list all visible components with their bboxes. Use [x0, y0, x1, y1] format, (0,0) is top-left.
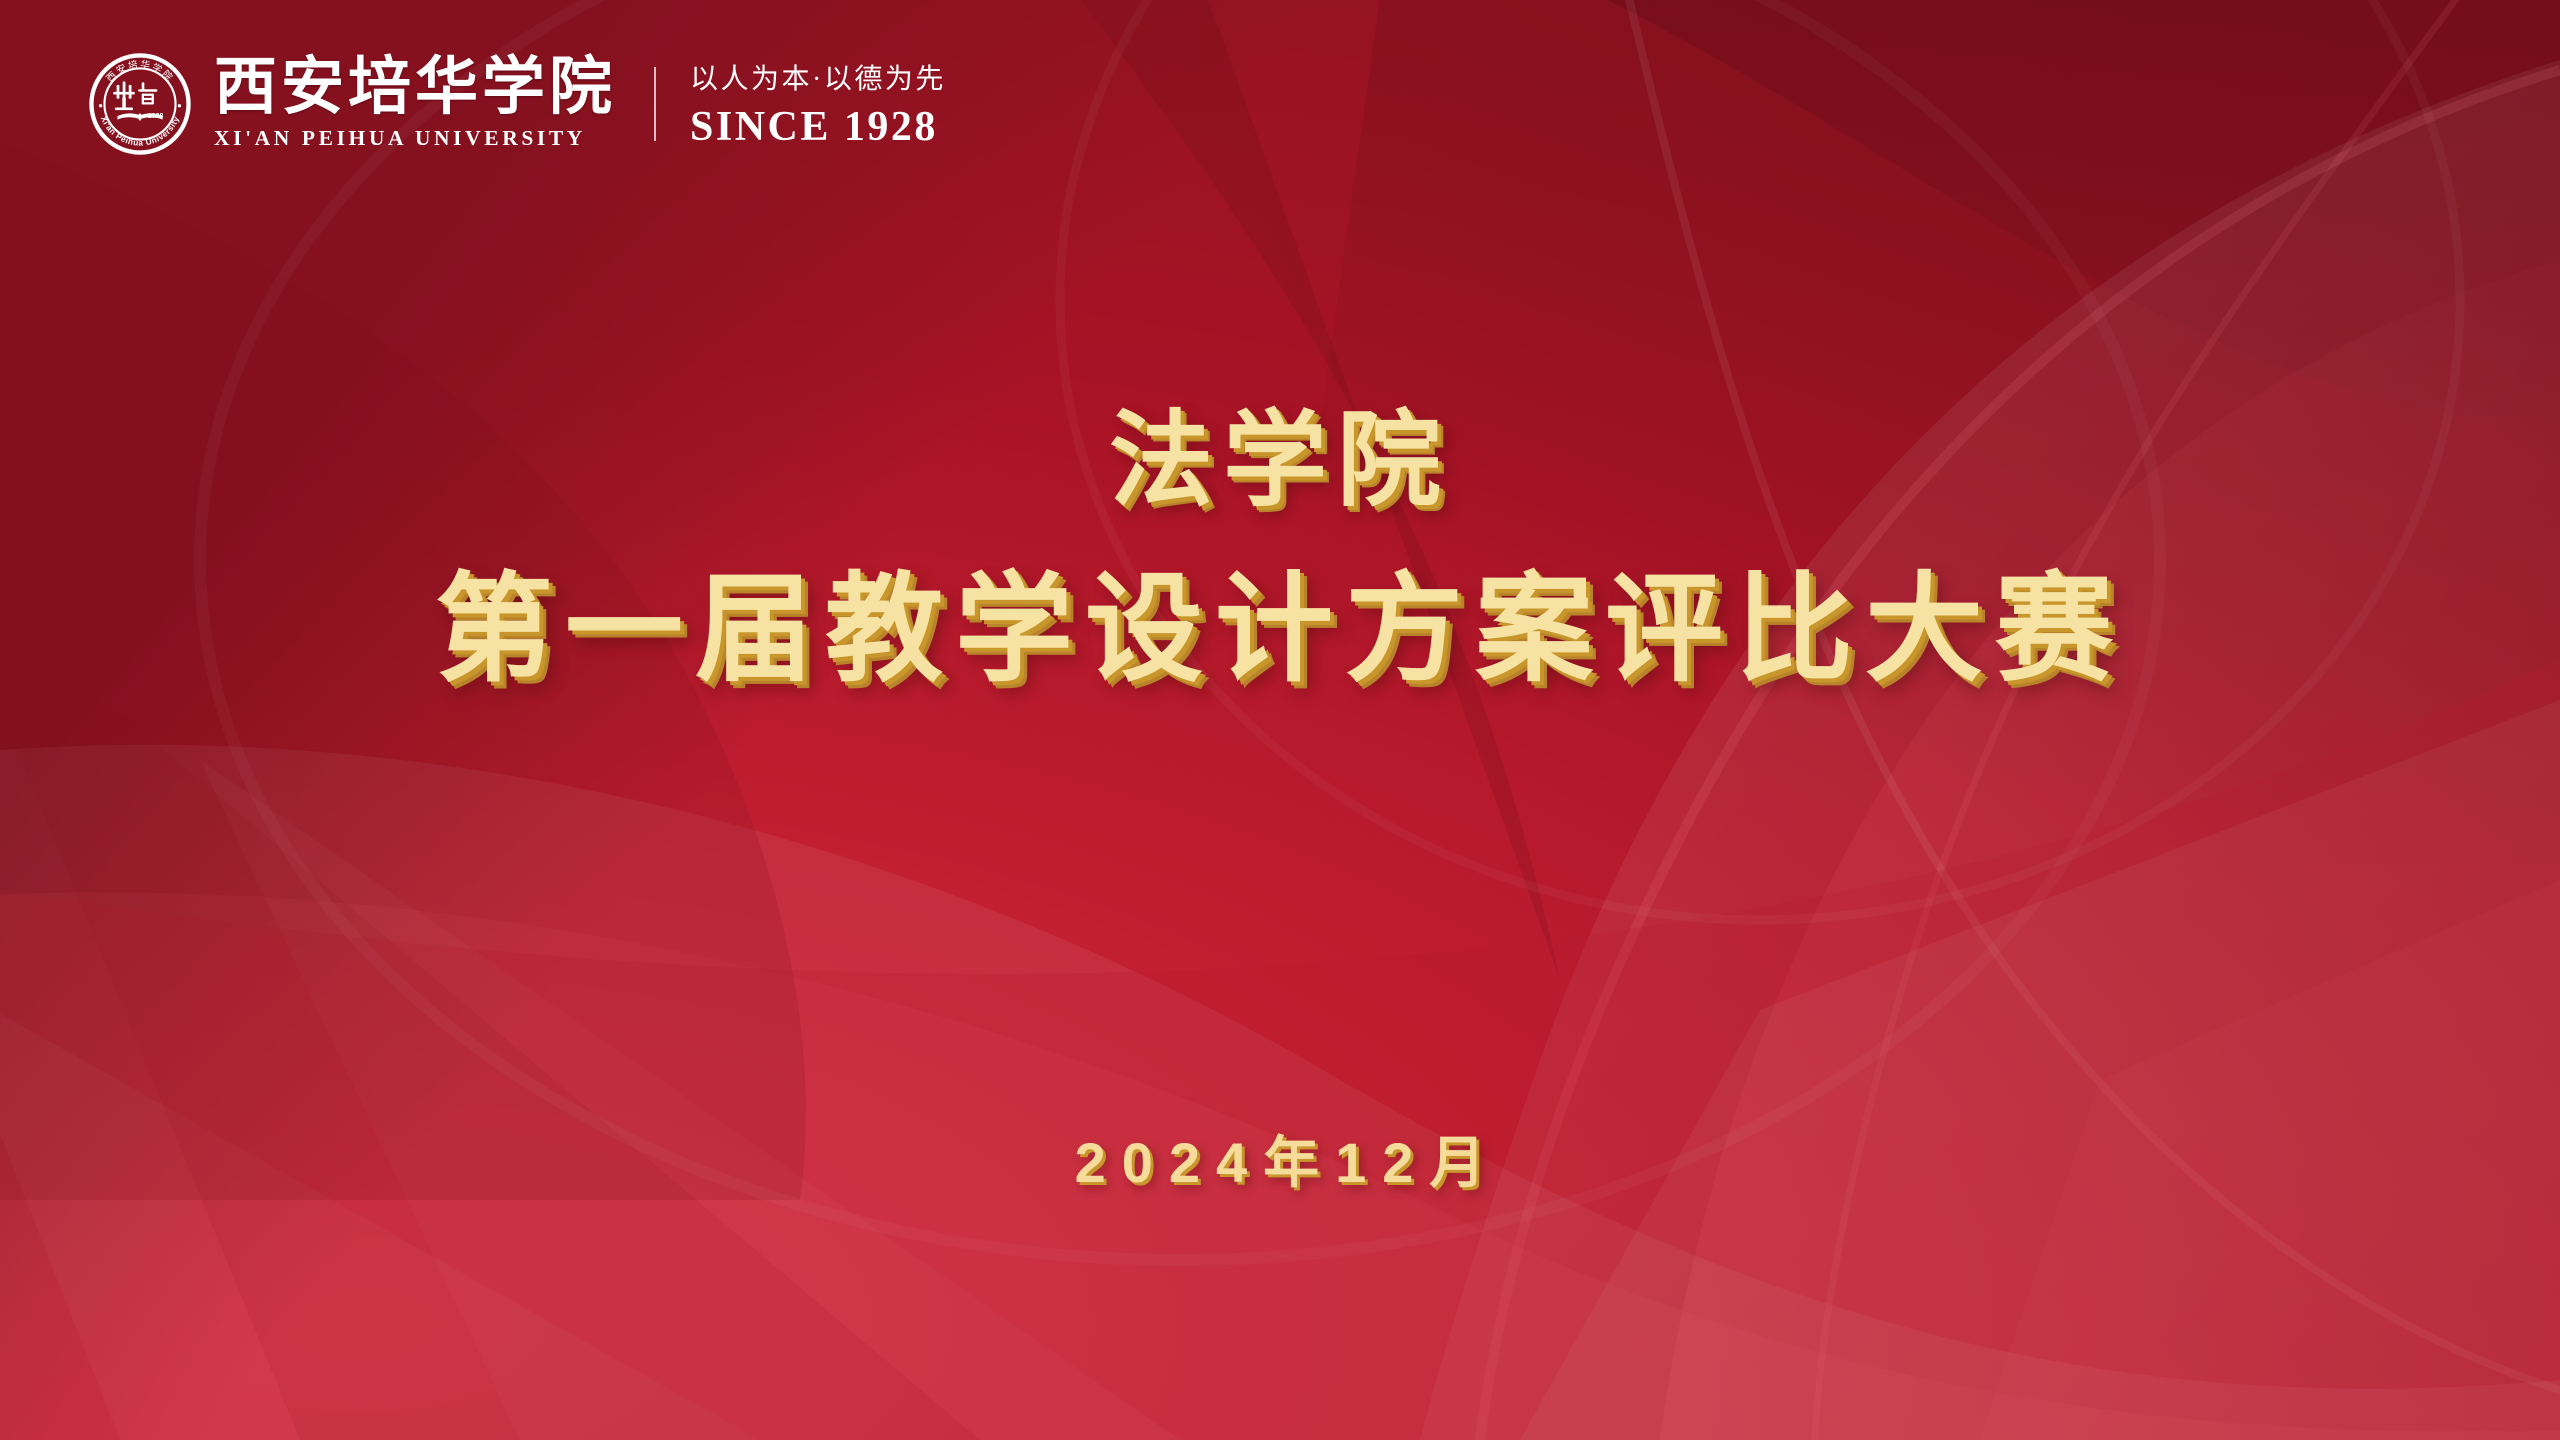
svg-text:1928: 1928	[148, 113, 164, 120]
event-date: 2024年12月	[0, 1118, 2560, 1199]
motto-cn: 以人为本·以德为先	[690, 57, 946, 97]
poster-stage: 西安培华学院 Xi'an Peihua University	[0, 0, 2560, 1440]
university-seal-icon: 西安培华学院 Xi'an Peihua University	[88, 52, 192, 156]
title-block: 法学院 第一届教学设计方案评比大赛	[0, 404, 2560, 697]
background-swirl-ribbons	[0, 0, 2560, 1440]
university-name-cn: 西安培华学院	[214, 57, 616, 119]
department-title: 法学院	[0, 404, 2560, 518]
event-title: 第一届教学设计方案评比大赛	[0, 564, 2560, 696]
brand-vertical-divider	[654, 67, 656, 141]
brand-motto-block: 以人为本·以德为先 SINCE 1928	[690, 56, 946, 152]
motto-en: SINCE 1928	[690, 103, 946, 151]
brand-name-block: 西安培华学院 XI'AN PEIHUA UNIVERSITY	[214, 52, 616, 156]
university-name-en: XI'AN PEIHUA UNIVERSITY	[214, 126, 616, 151]
brand-header: 西安培华学院 Xi'an Peihua University	[88, 48, 946, 160]
